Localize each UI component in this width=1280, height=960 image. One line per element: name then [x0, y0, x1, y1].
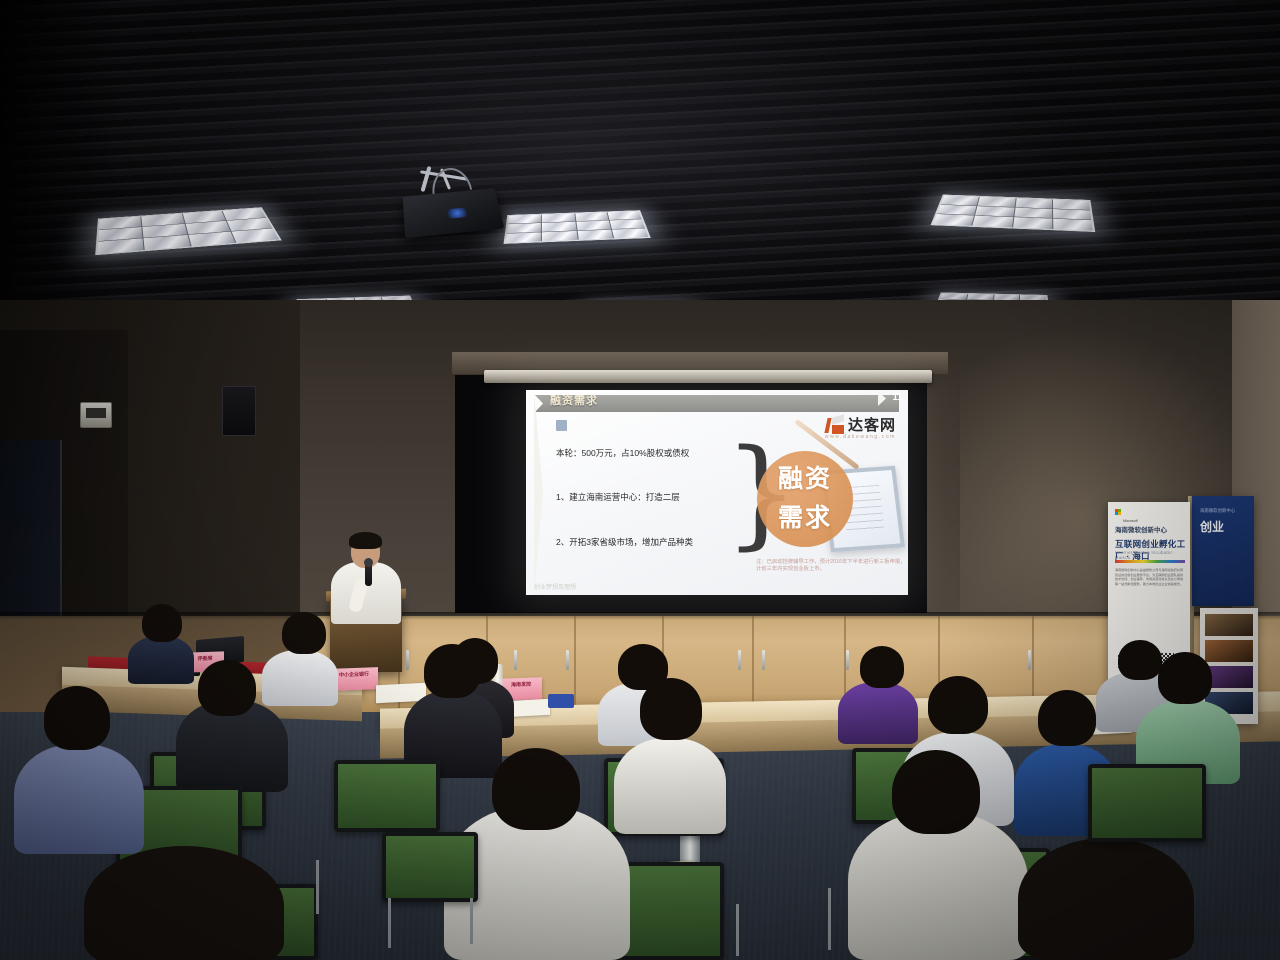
screen-roller-housing	[484, 370, 932, 383]
curly-brace-icon: }	[724, 442, 758, 566]
chair-leg	[736, 904, 739, 956]
cabinet-handle[interactable]	[514, 650, 517, 670]
slide-headline: 本轮：500万元，占10%股权或债权	[556, 447, 689, 459]
circle-text-line2: 需求	[764, 499, 846, 538]
poster-heading-cn: 海南微软创新中心	[1115, 524, 1167, 534]
slide-bullet: 2、开拓3家省级市场，增加产品种类	[556, 536, 693, 548]
chair-leg	[388, 898, 391, 948]
audience-head	[1158, 652, 1212, 704]
audience-head	[1038, 690, 1096, 746]
chair-leg	[828, 888, 831, 950]
logo-url: www.dakewang.com	[825, 434, 896, 440]
audience-torso	[614, 738, 726, 834]
chair-leg	[470, 898, 473, 944]
chevron-right-icon	[534, 390, 543, 595]
cabinet-handle[interactable]	[738, 650, 741, 670]
audience-head	[198, 660, 256, 716]
wall-loudspeaker-icon	[222, 386, 256, 436]
audience-head	[892, 750, 980, 834]
audience-head	[640, 678, 702, 740]
projection-screen: 融资需求 11 达客网 www.dakewang.com 本轮：500万元，占1…	[526, 390, 908, 595]
presenter-hair	[349, 532, 382, 549]
wall-shadow-line	[0, 612, 1280, 620]
microphone-icon	[365, 562, 372, 586]
cabinet-handle[interactable]	[566, 650, 569, 670]
poster-photo	[1205, 640, 1253, 662]
microsoft-wordmark: Microsoft	[1123, 519, 1138, 523]
audience-head	[860, 646, 904, 688]
poster-body-text: 海南微软创新中心是由微软公司与海南省政府共同建设的创新创业服务平台，为互联网创业…	[1115, 568, 1185, 586]
logo-text: 达客网	[848, 418, 896, 433]
poster-photo	[1205, 666, 1253, 688]
blue-banner-subtitle: 海南微软创新中心	[1200, 508, 1235, 514]
audience-head	[44, 686, 110, 750]
audience-torso	[262, 650, 338, 706]
audience-head	[1118, 640, 1162, 680]
audience-head	[142, 604, 182, 642]
blue-banner-title: 创业	[1200, 518, 1224, 535]
blue-device[interactable]	[548, 694, 574, 708]
audience-torso	[14, 744, 144, 854]
audience-head	[1018, 838, 1194, 960]
audience-head	[492, 748, 580, 830]
cabinet-handle[interactable]	[1028, 650, 1031, 670]
poster-photo	[1205, 614, 1253, 636]
audience-torso	[128, 636, 194, 684]
ceiling-light-fixture	[504, 210, 651, 244]
slide-bullet: 1、建立海南运营中心：打造二层	[556, 491, 680, 503]
wall-control-panel[interactable]	[80, 402, 112, 428]
projector-lens	[448, 208, 467, 219]
slide-watermark: 创业梦想及理想	[534, 582, 576, 591]
chair-leg	[316, 860, 319, 914]
circle-text-line1: 融资	[764, 460, 846, 499]
cabinet-handle[interactable]	[406, 650, 409, 670]
blue-banner: 海南微软创新中心 创业	[1192, 496, 1254, 606]
audience-head	[928, 676, 988, 734]
audience-torso	[848, 812, 1028, 960]
cabinet-handle[interactable]	[762, 650, 765, 670]
audience-head	[84, 846, 284, 960]
slide-footnote: 注：已启动挂牌辅导工作，预计2016年下半年进行新三板申报，计划三年内实现创业板…	[756, 559, 906, 573]
certificate-seal-icon	[556, 420, 567, 431]
slide-page-number: 11	[892, 392, 903, 403]
audience-torso	[838, 682, 918, 744]
circle-text: 融资 需求	[764, 460, 846, 538]
presentation-slide: 融资需求 11 达客网 www.dakewang.com 本轮：500万元，占1…	[526, 390, 908, 595]
company-logo: 达客网	[826, 416, 896, 435]
audience-head	[424, 644, 480, 698]
audience-head	[282, 612, 326, 654]
rainbow-divider	[1115, 560, 1185, 563]
poster-title-en: Internet Startup Incubator · Haikou	[1115, 550, 1190, 560]
slide-title: 融资需求	[550, 392, 598, 408]
logo-mark-icon	[826, 416, 845, 435]
conference-room-photo: 融资需求 11 达客网 www.dakewang.com 本轮：500万元，占1…	[0, 0, 1280, 960]
cabinet-handle[interactable]	[846, 650, 849, 670]
microsoft-logo-icon: Microsoft	[1115, 509, 1141, 515]
